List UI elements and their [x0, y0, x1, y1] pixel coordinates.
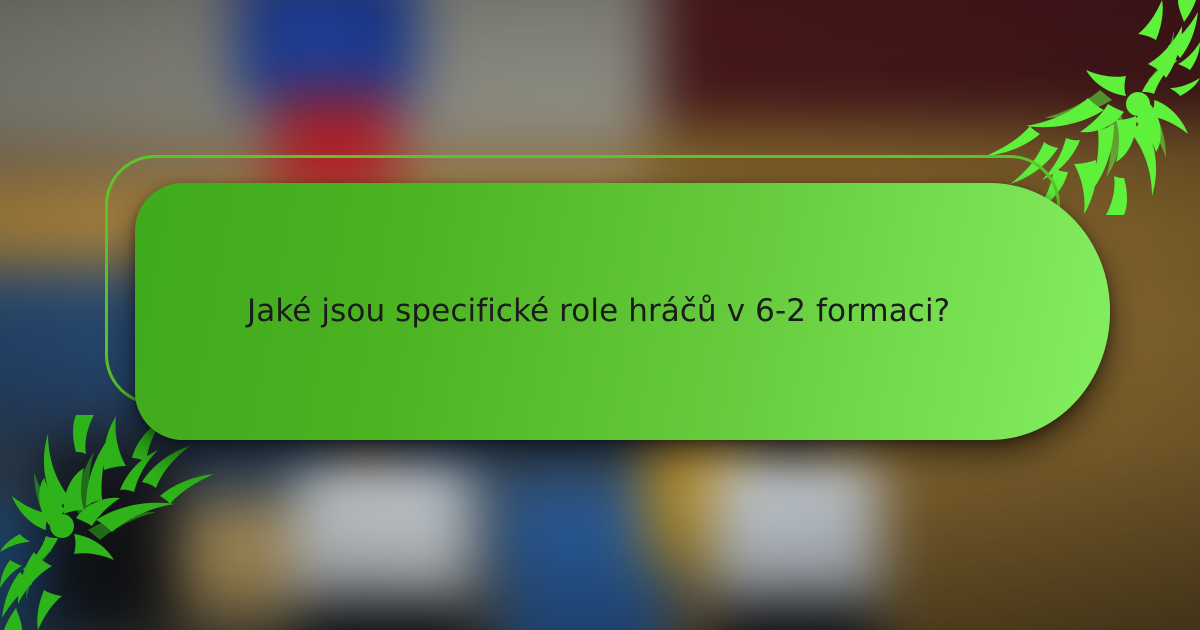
question-card-group: Jaké jsou specifické role hráčů v 6-2 fo… — [105, 155, 1110, 440]
poster-canvas: Jaké jsou specifické role hráčů v 6-2 fo… — [0, 0, 1200, 630]
question-card[interactable]: Jaké jsou specifické role hráčů v 6-2 fo… — [135, 183, 1110, 440]
question-text: Jaké jsou specifické role hráčů v 6-2 fo… — [135, 292, 1012, 332]
